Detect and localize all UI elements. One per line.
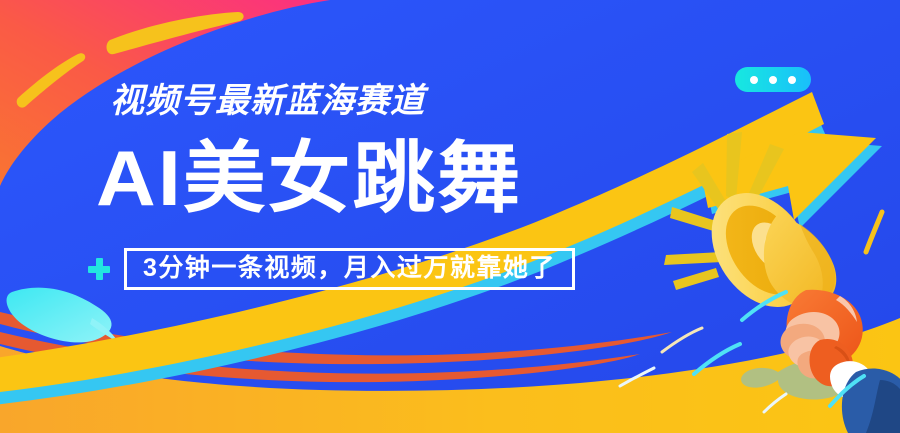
three-dots-badge[interactable] [735, 67, 811, 92]
growth-arrow [0, 92, 824, 394]
promo-poster: 视频号最新蓝海赛道 AI美女跳舞 3分钟一条视频，月入过万就靠她了 [0, 0, 900, 433]
dot-icon [750, 76, 758, 84]
megaphone-illustration [0, 0, 900, 433]
dot-icon [788, 76, 796, 84]
dot-icon [769, 76, 777, 84]
